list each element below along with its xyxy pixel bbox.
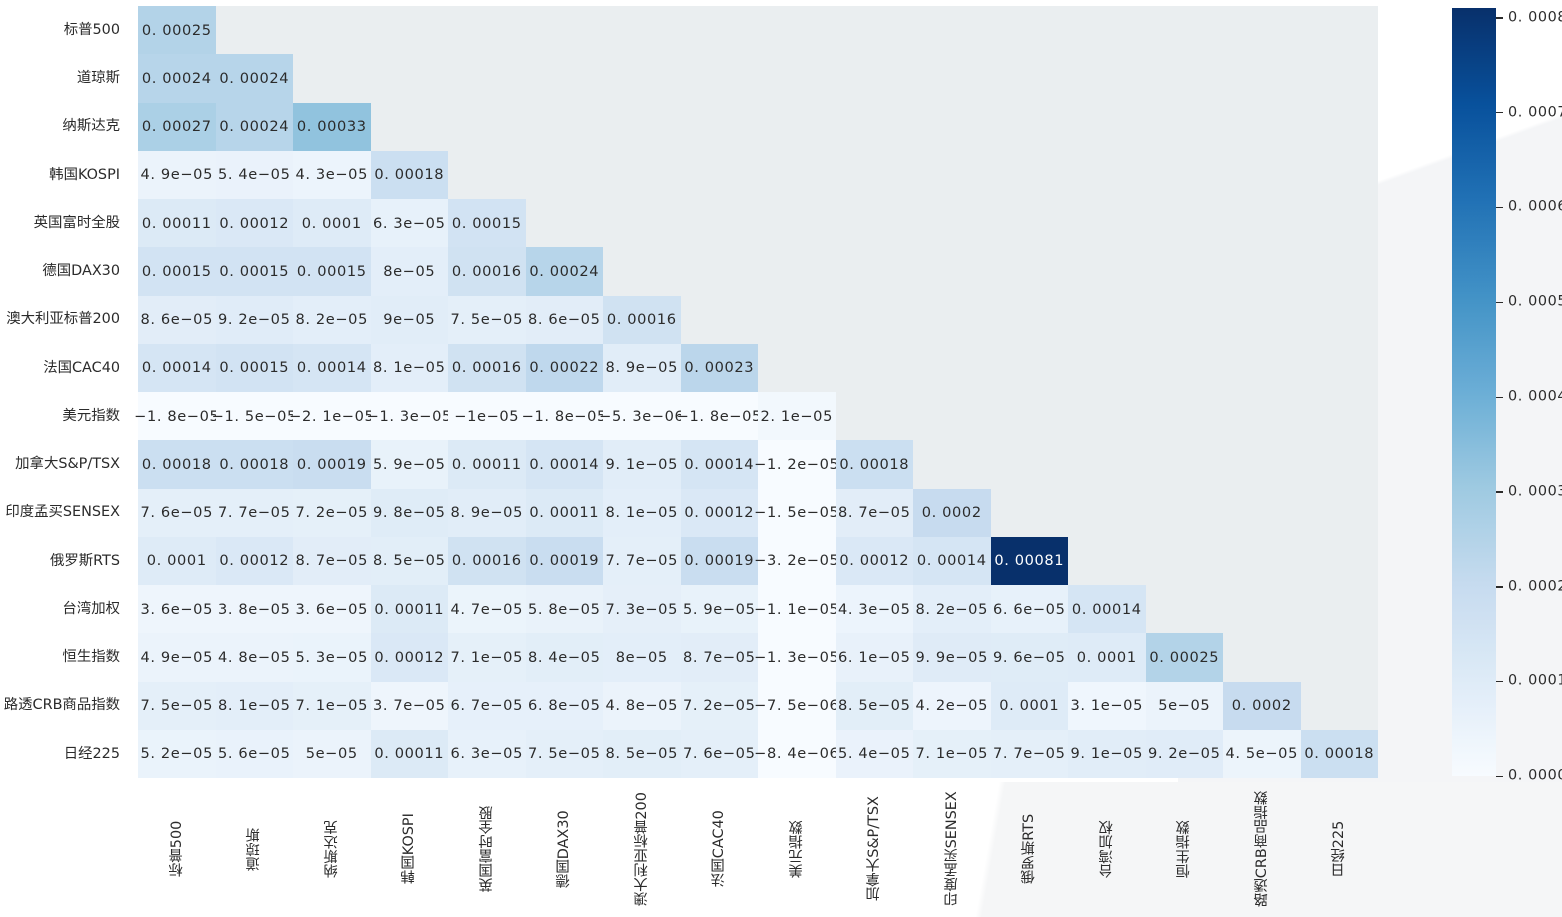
heatmap-cell-masked xyxy=(681,296,759,344)
heatmap-cell-masked xyxy=(1301,296,1379,344)
heatmap-cell: −1. 8e−05 xyxy=(138,392,216,440)
y-axis-tick-label: 德国DAX30 xyxy=(0,247,130,295)
x-axis-tick-label: 道琼斯 xyxy=(244,784,264,914)
heatmap-cell-masked xyxy=(991,344,1069,392)
heatmap-cell: 8. 6e−05 xyxy=(526,296,604,344)
heatmap-cell-masked xyxy=(991,440,1069,488)
heatmap-cell: 0. 00012 xyxy=(371,633,449,681)
heatmap-cell: 7. 5e−05 xyxy=(448,296,526,344)
heatmap-cell: −1. 2e−05 xyxy=(758,440,836,488)
heatmap-cell: −1. 8e−05 xyxy=(526,392,604,440)
heatmap-cell: 3. 7e−05 xyxy=(371,682,449,730)
heatmap-cell: 0. 00015 xyxy=(216,247,294,295)
colorbar-tick-label: 0. 0004 xyxy=(1508,390,1562,404)
heatmap-cell: 7. 7e−05 xyxy=(603,537,681,585)
heatmap-cell: −5. 3e−06 xyxy=(603,392,681,440)
heatmap-cell-masked xyxy=(1068,537,1146,585)
heatmap-cell-masked xyxy=(216,6,294,54)
heatmap-cell-masked xyxy=(1301,344,1379,392)
heatmap-cell-masked xyxy=(758,151,836,199)
heatmap-cell-masked xyxy=(758,103,836,151)
heatmap-cell-masked xyxy=(1223,54,1301,102)
heatmap-cell-masked xyxy=(1223,247,1301,295)
heatmap-cell-masked xyxy=(1146,392,1224,440)
heatmap-cell-masked xyxy=(371,54,449,102)
colorbar-tick: 0. 0008 xyxy=(1496,17,1562,18)
heatmap-cell: 8. 5e−05 xyxy=(371,537,449,585)
heatmap-cell-masked xyxy=(1068,6,1146,54)
y-axis-labels: 标普500道琼斯纳斯达克韩国KOSPI英国富时全股德国DAX30澳大利亚标普20… xyxy=(0,6,130,778)
heatmap-cell-masked xyxy=(913,54,991,102)
heatmap-cell-masked xyxy=(1146,344,1224,392)
heatmap-cell: 0. 00016 xyxy=(603,296,681,344)
heatmap-cell-masked xyxy=(1068,440,1146,488)
heatmap-cell-masked xyxy=(1223,392,1301,440)
heatmap-cell-masked xyxy=(1223,6,1301,54)
colorbar-tick-mark xyxy=(1496,776,1503,777)
heatmap-cell-masked xyxy=(1301,682,1379,730)
heatmap-cell: 0. 0001 xyxy=(991,682,1069,730)
heatmap-cell-masked xyxy=(836,247,914,295)
colorbar-tick-mark xyxy=(1496,491,1503,492)
heatmap-cell: 5. 4e−05 xyxy=(216,151,294,199)
heatmap-cell: −1. 3e−05 xyxy=(758,633,836,681)
heatmap-cell: 8. 5e−05 xyxy=(836,682,914,730)
heatmap-cell: 0. 00019 xyxy=(293,440,371,488)
y-axis-tick-label: 标普500 xyxy=(0,6,130,54)
heatmap-cell: 0. 00011 xyxy=(526,489,604,537)
heatmap-cell: 0. 00024 xyxy=(216,103,294,151)
heatmap-cell: 9. 8e−05 xyxy=(371,489,449,537)
heatmap-cell: 7. 3e−05 xyxy=(603,585,681,633)
heatmap-cell-masked xyxy=(1223,199,1301,247)
heatmap-cell-masked xyxy=(681,6,759,54)
heatmap-cell: 2. 1e−05 xyxy=(758,392,836,440)
x-axis-tick-label: 恒生指数 xyxy=(1174,784,1194,914)
heatmap-cell-masked xyxy=(293,6,371,54)
heatmap-cell-masked xyxy=(758,344,836,392)
x-axis-tick-label: 美元指数 xyxy=(787,784,807,914)
colorbar-tick-mark xyxy=(1496,112,1503,113)
heatmap-cell-masked xyxy=(1301,440,1379,488)
heatmap-cell-masked xyxy=(681,103,759,151)
heatmap-cell: 0. 00027 xyxy=(138,103,216,151)
y-axis-tick-label: 印度孟买SENSEX xyxy=(0,489,130,537)
x-axis-tick-label: 韩国KOSPI xyxy=(399,784,419,914)
heatmap-cell: 4. 7e−05 xyxy=(448,585,526,633)
heatmap-cell-masked xyxy=(913,440,991,488)
y-axis-tick-label: 美元指数 xyxy=(0,392,130,440)
heatmap-cell: 6. 3e−05 xyxy=(448,730,526,778)
heatmap-cell-masked xyxy=(991,489,1069,537)
x-axis-tick-label: 纳斯达克 xyxy=(322,784,342,914)
heatmap-cell-masked xyxy=(1301,537,1379,585)
colorbar-tick: 0. 0000 xyxy=(1496,776,1562,777)
heatmap-cell: 4. 5e−05 xyxy=(1223,730,1301,778)
heatmap-cell-masked xyxy=(1301,633,1379,681)
heatmap-cell: 0. 00012 xyxy=(216,199,294,247)
heatmap-cell-masked xyxy=(1068,344,1146,392)
heatmap-cell-masked xyxy=(1146,489,1224,537)
heatmap-cell: 0. 00015 xyxy=(138,247,216,295)
y-axis-tick-label: 日经225 xyxy=(0,730,130,778)
heatmap-cell-masked xyxy=(836,296,914,344)
heatmap-cell: 0. 00018 xyxy=(836,440,914,488)
x-axis-labels: 标普500道琼斯纳斯达克韩国KOSPI英国富时全股德国DAX30澳大利亚标普20… xyxy=(138,784,1378,917)
heatmap-cell-masked xyxy=(293,54,371,102)
heatmap-cell-masked xyxy=(1068,54,1146,102)
heatmap-cell-masked xyxy=(681,199,759,247)
colorbar-tick-label: 0. 0003 xyxy=(1508,484,1562,498)
heatmap-cell-masked xyxy=(1146,199,1224,247)
colorbar-tick-mark xyxy=(1496,586,1503,587)
heatmap-cell-masked xyxy=(1223,151,1301,199)
x-axis-tick-label: 路透CRB商品指数 xyxy=(1252,784,1272,914)
y-axis-tick-label: 路透CRB商品指数 xyxy=(0,682,130,730)
heatmap-cell: 0. 0001 xyxy=(1068,633,1146,681)
heatmap-cell: 0. 00018 xyxy=(371,151,449,199)
heatmap-cell: −1. 1e−05 xyxy=(758,585,836,633)
heatmap-cell-masked xyxy=(836,151,914,199)
heatmap-cell-masked xyxy=(836,344,914,392)
heatmap-cell: 8. 4e−05 xyxy=(526,633,604,681)
heatmap-cell: 0. 00011 xyxy=(448,440,526,488)
heatmap-cell-masked xyxy=(913,199,991,247)
x-axis-tick-label: 台湾加权 xyxy=(1097,784,1117,914)
heatmap-cell: 8. 7e−05 xyxy=(293,537,371,585)
heatmap-cell: 0. 00022 xyxy=(526,344,604,392)
colorbar-tick-label: 0. 0007 xyxy=(1508,105,1562,119)
heatmap-cell-masked xyxy=(1301,585,1379,633)
colorbar-tick-label: 0. 0005 xyxy=(1508,295,1562,309)
colorbar-tick-mark xyxy=(1496,207,1503,208)
heatmap-cell: 5. 3e−05 xyxy=(293,633,371,681)
heatmap-cell-masked xyxy=(1146,6,1224,54)
heatmap-cell: 0. 00016 xyxy=(448,537,526,585)
heatmap-cell-masked xyxy=(1301,6,1379,54)
colorbar-tick: 0. 0006 xyxy=(1496,207,1562,208)
heatmap-cell: −3. 2e−05 xyxy=(758,537,836,585)
heatmap-cell: 0. 00015 xyxy=(216,344,294,392)
heatmap-cell: 0. 0002 xyxy=(913,489,991,537)
heatmap-cell: 0. 00025 xyxy=(1146,633,1224,681)
heatmap-grid: 0. 000250. 000240. 000240. 000270. 00024… xyxy=(138,6,1378,778)
heatmap-cell-masked xyxy=(1223,440,1301,488)
heatmap-cell-masked xyxy=(526,151,604,199)
heatmap-cell-masked xyxy=(371,103,449,151)
heatmap-cell: 7. 5e−05 xyxy=(138,682,216,730)
heatmap-cell: 8. 7e−05 xyxy=(836,489,914,537)
heatmap-cell: 0. 00011 xyxy=(138,199,216,247)
heatmap-cell: 4. 2e−05 xyxy=(913,682,991,730)
heatmap-cell-masked xyxy=(603,199,681,247)
heatmap-cell-masked xyxy=(758,296,836,344)
heatmap-cell-masked xyxy=(1146,103,1224,151)
heatmap-cell: −2. 1e−05 xyxy=(293,392,371,440)
heatmap-cell: −1. 5e−05 xyxy=(758,489,836,537)
heatmap-cell-masked xyxy=(1146,440,1224,488)
colorbar-tick: 0. 0002 xyxy=(1496,586,1562,587)
heatmap-figure: 标普500道琼斯纳斯达克韩国KOSPI英国富时全股德国DAX30澳大利亚标普20… xyxy=(0,0,1562,917)
heatmap-cell-masked xyxy=(1068,296,1146,344)
heatmap-cell: 8. 1e−05 xyxy=(603,489,681,537)
heatmap-cell: −7. 5e−06 xyxy=(758,682,836,730)
heatmap-cell-masked xyxy=(1068,489,1146,537)
heatmap-cell-masked xyxy=(836,103,914,151)
heatmap-cell: 0. 00018 xyxy=(1301,730,1379,778)
heatmap-cell-masked xyxy=(758,247,836,295)
heatmap-cell-masked xyxy=(1301,54,1379,102)
heatmap-cell: 0. 00014 xyxy=(526,440,604,488)
heatmap-cell: 6. 7e−05 xyxy=(448,682,526,730)
heatmap-cell-masked xyxy=(603,103,681,151)
heatmap-cell: 0. 00014 xyxy=(1068,585,1146,633)
heatmap-cell-masked xyxy=(1223,585,1301,633)
heatmap-cell: 8. 2e−05 xyxy=(293,296,371,344)
heatmap-cell: 0. 00014 xyxy=(293,344,371,392)
heatmap-cell: 0. 00011 xyxy=(371,585,449,633)
y-axis-tick-label: 台湾加权 xyxy=(0,585,130,633)
colorbar-tick-label: 0. 0008 xyxy=(1508,10,1562,24)
heatmap-cell: 8. 7e−05 xyxy=(681,633,759,681)
heatmap-cell-masked xyxy=(603,247,681,295)
heatmap-cell-masked xyxy=(1223,489,1301,537)
heatmap-cell-masked xyxy=(1301,489,1379,537)
heatmap-cell-masked xyxy=(1223,103,1301,151)
y-axis-tick-label: 恒生指数 xyxy=(0,633,130,681)
heatmap-cell: 9. 1e−05 xyxy=(603,440,681,488)
heatmap-cell-masked xyxy=(603,151,681,199)
heatmap-cell-masked xyxy=(836,6,914,54)
heatmap-cell: 7. 5e−05 xyxy=(526,730,604,778)
y-axis-tick-label: 英国富时全股 xyxy=(0,199,130,247)
colorbar-tick: 0. 0001 xyxy=(1496,681,1562,682)
heatmap-cell: 5. 6e−05 xyxy=(216,730,294,778)
heatmap-cell: 0. 00014 xyxy=(913,537,991,585)
heatmap-cell: 0. 00011 xyxy=(371,730,449,778)
heatmap-cell: 8. 2e−05 xyxy=(913,585,991,633)
heatmap-cell: 0. 00024 xyxy=(138,54,216,102)
heatmap-cell: −8. 4e−06 xyxy=(758,730,836,778)
heatmap-cell: 0. 00024 xyxy=(526,247,604,295)
heatmap-cell-masked xyxy=(991,103,1069,151)
heatmap-cell: 3. 6e−05 xyxy=(293,585,371,633)
x-axis-tick-label: 日经225 xyxy=(1329,784,1349,914)
heatmap-cell: 4. 3e−05 xyxy=(836,585,914,633)
heatmap-cell-masked xyxy=(1068,151,1146,199)
heatmap-cell: 8. 1e−05 xyxy=(371,344,449,392)
colorbar-tick-mark xyxy=(1496,302,1503,303)
heatmap-cell-masked xyxy=(991,296,1069,344)
heatmap-cell-masked xyxy=(991,247,1069,295)
heatmap-cell-masked xyxy=(1301,247,1379,295)
heatmap-cell-masked xyxy=(1068,392,1146,440)
heatmap-cell: 9e−05 xyxy=(371,296,449,344)
heatmap-cell: 7. 1e−05 xyxy=(293,682,371,730)
heatmap-cell-masked xyxy=(526,103,604,151)
heatmap-cell: 0. 00015 xyxy=(293,247,371,295)
heatmap-cell: 5. 4e−05 xyxy=(836,730,914,778)
heatmap-cell-masked xyxy=(448,54,526,102)
heatmap-cell: 0. 00012 xyxy=(216,537,294,585)
colorbar: 0. 00000. 00010. 00020. 00030. 00040. 00… xyxy=(1452,8,1496,776)
heatmap-cell-masked xyxy=(758,6,836,54)
x-axis-tick-label: 德国DAX30 xyxy=(554,784,574,914)
heatmap-cell: 0. 00014 xyxy=(681,440,759,488)
colorbar-tick-label: 0. 0001 xyxy=(1508,674,1562,688)
heatmap-cell: 7. 6e−05 xyxy=(681,730,759,778)
heatmap-cell: 8. 1e−05 xyxy=(216,682,294,730)
heatmap-cell: 7. 7e−05 xyxy=(216,489,294,537)
heatmap-cell: 8. 6e−05 xyxy=(138,296,216,344)
heatmap-cell: −1. 5e−05 xyxy=(216,392,294,440)
heatmap-cell-masked xyxy=(1223,633,1301,681)
heatmap-cell-masked xyxy=(526,6,604,54)
heatmap-cell-masked xyxy=(371,6,449,54)
heatmap-cell: 8. 9e−05 xyxy=(603,344,681,392)
heatmap-cell-masked xyxy=(1146,247,1224,295)
heatmap-cell: 7. 1e−05 xyxy=(913,730,991,778)
heatmap-cell: 6. 8e−05 xyxy=(526,682,604,730)
heatmap-cell: 7. 2e−05 xyxy=(293,489,371,537)
heatmap-cell-masked xyxy=(1223,344,1301,392)
heatmap-cell: 8. 5e−05 xyxy=(603,730,681,778)
heatmap-cell: 0. 00018 xyxy=(216,440,294,488)
heatmap-cell: 4. 3e−05 xyxy=(293,151,371,199)
heatmap-cell-masked xyxy=(1068,103,1146,151)
heatmap-cell: 7. 6e−05 xyxy=(138,489,216,537)
heatmap-cell: 0. 0002 xyxy=(1223,682,1301,730)
heatmap-cell-masked xyxy=(526,54,604,102)
heatmap-cell: −1e−05 xyxy=(448,392,526,440)
y-axis-tick-label: 道琼斯 xyxy=(0,54,130,102)
heatmap-cell-masked xyxy=(1146,151,1224,199)
heatmap-cell: 4. 9e−05 xyxy=(138,151,216,199)
x-axis-tick-label: 澳大利亚标普200 xyxy=(632,784,652,914)
y-axis-tick-label: 法国CAC40 xyxy=(0,344,130,392)
heatmap-cell: 0. 00012 xyxy=(836,537,914,585)
heatmap-cell-masked xyxy=(448,103,526,151)
colorbar-gradient xyxy=(1452,8,1496,776)
heatmap-cell-masked xyxy=(913,247,991,295)
heatmap-cell-masked xyxy=(758,199,836,247)
colorbar-tick: 0. 0003 xyxy=(1496,492,1562,493)
heatmap-cell: 8. 9e−05 xyxy=(448,489,526,537)
heatmap-cell: 0. 00012 xyxy=(681,489,759,537)
heatmap-cell-masked xyxy=(681,151,759,199)
heatmap-cell-masked xyxy=(913,151,991,199)
heatmap-cell: 9. 1e−05 xyxy=(1068,730,1146,778)
heatmap-cell-masked xyxy=(991,199,1069,247)
heatmap-cell: 0. 00014 xyxy=(138,344,216,392)
heatmap-cell: 5. 8e−05 xyxy=(526,585,604,633)
heatmap-cell-masked xyxy=(913,344,991,392)
heatmap-cell: 0. 00019 xyxy=(681,537,759,585)
y-axis-tick-label: 俄罗斯RTS xyxy=(0,537,130,585)
heatmap-cell-masked xyxy=(913,103,991,151)
heatmap-cell: 9. 9e−05 xyxy=(913,633,991,681)
heatmap-cell: 0. 00025 xyxy=(138,6,216,54)
y-axis-tick-label: 纳斯达克 xyxy=(0,103,130,151)
heatmap-cell-masked xyxy=(758,54,836,102)
colorbar-tick: 0. 0007 xyxy=(1496,112,1562,113)
heatmap-cell-masked xyxy=(913,392,991,440)
heatmap-cell-masked xyxy=(1223,537,1301,585)
heatmap-cell: 0. 00016 xyxy=(448,344,526,392)
heatmap-cell-masked xyxy=(836,54,914,102)
colorbar-tick-label: 0. 0000 xyxy=(1508,769,1562,783)
heatmap-cell: −1. 3e−05 xyxy=(371,392,449,440)
heatmap-cell: 4. 9e−05 xyxy=(138,633,216,681)
heatmap-cell-masked xyxy=(991,54,1069,102)
heatmap-cell-masked xyxy=(1301,392,1379,440)
heatmap-cell-masked xyxy=(1301,151,1379,199)
heatmap-cell-masked xyxy=(991,392,1069,440)
heatmap-cell: 0. 00023 xyxy=(681,344,759,392)
y-axis-tick-label: 澳大利亚标普200 xyxy=(0,296,130,344)
y-axis-tick-label: 加拿大S&P/TSX xyxy=(0,440,130,488)
colorbar-tick-label: 0. 0006 xyxy=(1508,200,1562,214)
heatmap-cell-masked xyxy=(991,151,1069,199)
heatmap-cell: 3. 8e−05 xyxy=(216,585,294,633)
y-axis-tick-label: 韩国KOSPI xyxy=(0,151,130,199)
x-axis-tick-label: 俄罗斯RTS xyxy=(1019,784,1039,914)
heatmap-cell-masked xyxy=(1146,296,1224,344)
heatmap-cell: 6. 1e−05 xyxy=(836,633,914,681)
heatmap-cell: −1. 8e−05 xyxy=(681,392,759,440)
heatmap-cell: 9. 2e−05 xyxy=(1146,730,1224,778)
heatmap-cell: 9. 2e−05 xyxy=(216,296,294,344)
colorbar-tick-mark xyxy=(1496,17,1503,18)
heatmap-cell-masked xyxy=(913,296,991,344)
heatmap-cell: 6. 3e−05 xyxy=(371,199,449,247)
heatmap-cell: 5e−05 xyxy=(1146,682,1224,730)
colorbar-tick: 0. 0005 xyxy=(1496,302,1562,303)
x-axis-tick-label: 标普500 xyxy=(167,784,187,914)
heatmap-cell: 5e−05 xyxy=(293,730,371,778)
heatmap-cell: 3. 1e−05 xyxy=(1068,682,1146,730)
heatmap-cell-masked xyxy=(603,6,681,54)
heatmap-cell: 8e−05 xyxy=(371,247,449,295)
x-axis-tick-label: 加拿大S&P/TSX xyxy=(864,784,884,914)
heatmap-cell-masked xyxy=(1301,199,1379,247)
heatmap-cell: 0. 0001 xyxy=(293,199,371,247)
heatmap-cell-masked xyxy=(1146,585,1224,633)
heatmap-cell: 5. 9e−05 xyxy=(371,440,449,488)
heatmap-cell: 5. 2e−05 xyxy=(138,730,216,778)
heatmap-cell-masked xyxy=(1223,296,1301,344)
heatmap-cell: 7. 1e−05 xyxy=(448,633,526,681)
heatmap-cell: 0. 00081 xyxy=(991,537,1069,585)
heatmap-cell-masked xyxy=(681,54,759,102)
heatmap-cell: 0. 00019 xyxy=(526,537,604,585)
colorbar-tick-mark xyxy=(1496,681,1503,682)
heatmap-cell: 0. 00016 xyxy=(448,247,526,295)
heatmap-cell: 6. 6e−05 xyxy=(991,585,1069,633)
heatmap-cell-masked xyxy=(1146,537,1224,585)
heatmap-cell: 0. 0001 xyxy=(138,537,216,585)
heatmap-cell: 0. 00024 xyxy=(216,54,294,102)
heatmap-cell: 0. 00015 xyxy=(448,199,526,247)
colorbar-tick: 0. 0004 xyxy=(1496,397,1562,398)
heatmap-cell: 0. 00033 xyxy=(293,103,371,151)
heatmap-cell-masked xyxy=(836,199,914,247)
heatmap-cell: 4. 8e−05 xyxy=(603,682,681,730)
heatmap-cell: 9. 6e−05 xyxy=(991,633,1069,681)
heatmap-cell-masked xyxy=(681,247,759,295)
heatmap-cell-masked xyxy=(913,6,991,54)
heatmap-cell-masked xyxy=(991,6,1069,54)
